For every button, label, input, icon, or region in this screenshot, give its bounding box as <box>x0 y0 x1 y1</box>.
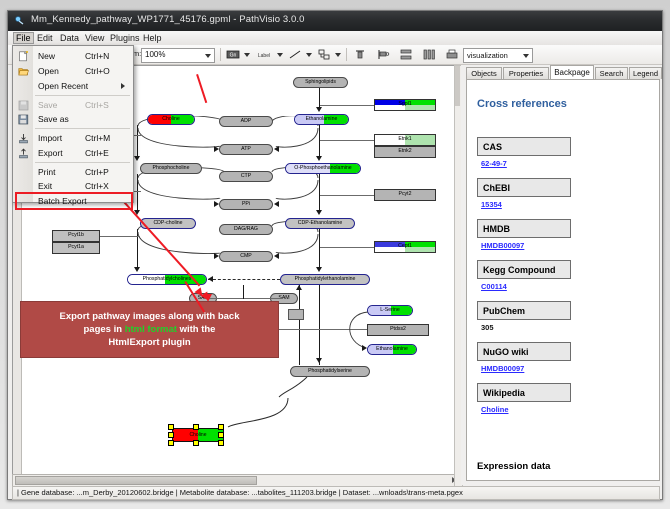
menu-item-accel: Ctrl+X <box>85 181 109 191</box>
menu-item-print[interactable]: Print Ctrl+P <box>13 165 133 179</box>
tab-backpage[interactable]: Backpage <box>550 65 594 79</box>
title-bar: Mm_Kennedy_pathway_WP1771_45176.gpml - P… <box>8 11 662 32</box>
toolbar-separator <box>220 48 221 61</box>
annotation-line-2a: pages in <box>84 324 125 335</box>
connector-cept1 <box>320 247 375 248</box>
node-label: Etnk2 <box>398 149 411 154</box>
node-label: Sphingolipids <box>305 80 336 85</box>
node-adp[interactable]: ADP <box>219 116 273 127</box>
menu-item-label: Print <box>38 167 55 177</box>
node-label: CMP <box>240 254 252 259</box>
node-choline-selected[interactable]: Choline <box>172 428 224 442</box>
arrowhead-icon <box>316 267 322 272</box>
node-atp[interactable]: ATP <box>219 144 273 155</box>
node-ethanolamine[interactable]: Ethanolamine <box>294 114 349 125</box>
arrowhead-icon <box>362 345 367 351</box>
connector-etnk-group <box>320 140 375 141</box>
export-icon <box>18 148 29 159</box>
batch-export-highlight-box <box>15 192 133 210</box>
db-name: HMDB <box>478 224 510 234</box>
menu-separator <box>35 162 130 163</box>
menu-item-label: New <box>38 51 55 61</box>
arrowhead-icon <box>274 201 279 207</box>
node-label: CDP-Ethanolamine <box>298 221 342 226</box>
menu-view[interactable]: View <box>82 32 107 44</box>
label-dropdown-arrow-icon[interactable] <box>277 53 283 57</box>
node-cept1[interactable]: Cept1 <box>374 241 436 253</box>
db-header-pubchem: PubChem <box>477 301 571 320</box>
arrowhead-icon <box>274 253 279 259</box>
edge-methyl-branch <box>243 285 244 299</box>
node-dag-rag[interactable]: DAG/RAG <box>219 224 273 235</box>
distribute-horizontal-button[interactable] <box>422 48 436 61</box>
db-value-nugo-wiki[interactable]: HMDB00097 <box>481 364 524 373</box>
node-label: Pcyt1a <box>68 245 84 250</box>
connector-pcyt1-group <box>100 236 140 237</box>
node-label: CTP <box>241 174 251 179</box>
arrowhead-icon <box>316 107 322 112</box>
menu-item-label: Import <box>38 133 62 143</box>
arrowhead-icon <box>316 358 322 363</box>
menu-item-label: Open Recent <box>38 81 88 91</box>
new-document-icon <box>18 51 29 62</box>
save-as-icon <box>18 114 29 125</box>
node-anchor-stub[interactable] <box>288 309 304 320</box>
node-label: Sgpl1 <box>398 102 411 107</box>
align-top-button[interactable] <box>353 48 367 61</box>
backpage-content: Cross references CAS 62-49-7 ChEBI 15354… <box>466 79 660 481</box>
node-label: Choline <box>173 429 223 441</box>
db-value-hmdb[interactable]: HMDB00097 <box>481 241 524 250</box>
node-label: Pcyt1b <box>68 233 84 238</box>
menu-file[interactable]: File <box>13 32 34 44</box>
scrollbar-thumb[interactable] <box>455 66 460 106</box>
annotation-line-1: Export pathway images along with back <box>59 311 239 322</box>
db-value-pubchem: 305 <box>481 323 494 332</box>
line-tool-button[interactable] <box>288 48 302 61</box>
visualization-value: visualization <box>467 51 508 60</box>
node-label: Ethanolamine <box>306 117 338 122</box>
node-label: Ethanolamine <box>376 347 408 352</box>
gene-product-tool-button[interactable]: Gn <box>226 48 240 61</box>
node-etnk1[interactable]: Etnk1 <box>374 134 436 146</box>
menu-item-label: Export <box>38 148 63 158</box>
svg-text:Gn: Gn <box>230 53 237 59</box>
align-left-button[interactable] <box>376 48 390 61</box>
db-value-kegg-compound[interactable]: C00114 <box>481 282 507 291</box>
node-pcyt2[interactable]: Pcyt2 <box>374 189 436 201</box>
menu-help[interactable]: Help <box>140 32 165 44</box>
node-pcyt1a[interactable]: Pcyt1a <box>52 242 100 254</box>
node-cdp-ethanolamine[interactable]: CDP-Ethanolamine <box>285 218 355 229</box>
db-header-kegg-compound: Kegg Compound <box>477 260 571 279</box>
file-menu-popup[interactable]: New Ctrl+N Open Ctrl+O Open Recent <box>12 45 134 203</box>
distribute-horizontal-icon <box>422 48 436 61</box>
node-label: Phosphocholine <box>153 166 190 171</box>
line-tool-icon <box>288 48 302 61</box>
distribute-vertical-icon <box>399 48 413 61</box>
menu-item-exit[interactable]: Exit Ctrl+X <box>13 179 133 193</box>
edge-ps-to-pe <box>299 285 300 365</box>
db-name: CAS <box>478 142 502 152</box>
zoom-combobox[interactable]: 100% <box>141 48 215 63</box>
line-dropdown-arrow-icon[interactable] <box>306 53 312 57</box>
node-label: Choline <box>162 117 180 122</box>
menu-item-new[interactable]: New Ctrl+N <box>13 49 133 63</box>
submenu-arrow-icon <box>121 83 125 89</box>
arrowhead-icon <box>274 146 279 152</box>
app-window-frame: Mm_Kennedy_pathway_WP1771_45176.gpml - P… <box>0 0 670 509</box>
status-text: | Gene database: ...m_Derby_20120602.bri… <box>17 488 463 497</box>
menu-item-accel: Ctrl+S <box>85 100 109 110</box>
expression-data-title: Expression data <box>477 461 550 472</box>
node-label: Phosphatidylethanolamine <box>295 277 356 282</box>
interaction-tool-button[interactable] <box>317 48 331 61</box>
distribute-vertical-button[interactable] <box>399 48 413 61</box>
interaction-dropdown-arrow-icon[interactable] <box>335 53 341 57</box>
menu-item-accel: Ctrl+O <box>85 66 110 76</box>
align-left-icon <box>376 48 390 61</box>
node-phosphatidylethanolamine[interactable]: Phosphatidylethanolamine <box>280 274 370 285</box>
annotation-text: Export pathway images along with back pa… <box>53 310 245 349</box>
db-name: Wikipedia <box>478 388 525 398</box>
node-label: Etnk1 <box>398 137 411 142</box>
db-header-chebi: ChEBI <box>477 178 571 197</box>
cross-references-title: Cross references <box>477 98 567 110</box>
status-bar: | Gene database: ...m_Derby_20120602.bri… <box>12 486 660 500</box>
connector-pcyt2 <box>320 195 375 196</box>
printer-icon <box>445 48 459 61</box>
menu-item-open-recent[interactable]: Open Recent <box>13 79 133 93</box>
db-header-nugo-wiki: NuGO wiki <box>477 342 571 361</box>
side-panel-tabstrip: Objects Properties Backpage Search Legen… <box>466 65 658 79</box>
side-panel: Objects Properties Backpage Search Legen… <box>461 65 658 485</box>
node-cmp[interactable]: CMP <box>219 251 273 262</box>
node-choline[interactable]: Choline <box>147 114 195 125</box>
menu-item-accel: Ctrl+P <box>85 167 109 177</box>
arrowhead-icon <box>208 276 213 282</box>
folder-open-icon <box>18 66 29 77</box>
menu-separator <box>35 128 130 129</box>
db-header-cas: CAS <box>477 137 571 156</box>
menu-bar: File Edit Data View Plugins Help <box>8 31 662 46</box>
arrowhead-icon <box>296 285 302 290</box>
annotation-line-3: HtmlExport plugin <box>108 337 190 348</box>
node-label: O-Phosphoethanolamine <box>294 166 351 171</box>
menu-item-accel: Ctrl+E <box>85 148 109 158</box>
visualization-combobox[interactable]: visualization <box>463 48 533 63</box>
node-label: ATP <box>241 147 251 152</box>
save-disk-icon <box>18 100 29 111</box>
menu-item-save-as[interactable]: Save as <box>13 112 133 126</box>
db-header-wikipedia: Wikipedia <box>477 383 571 402</box>
node-label: CDP-choline <box>153 221 182 226</box>
node-sgpl1[interactable]: Sgpl1 <box>374 99 436 111</box>
chevron-down-icon <box>523 54 529 58</box>
print-button[interactable] <box>445 48 459 61</box>
annotation-highlight: html format <box>125 324 177 335</box>
menu-item-import[interactable]: Import Ctrl+M <box>13 131 133 145</box>
cofactor-loop-ethanolamine <box>270 116 322 266</box>
node-label: Cept1 <box>398 244 412 249</box>
menu-item-label: Exit <box>38 181 52 191</box>
node-sphingolipids[interactable]: Sphingolipids <box>293 77 348 88</box>
node-label: ADP <box>241 119 252 124</box>
node-label: Ptdss2 <box>390 327 406 332</box>
edge-pe-to-ps <box>319 285 320 365</box>
import-icon <box>18 133 29 144</box>
interaction-tool-icon <box>317 48 331 61</box>
tab-legend[interactable]: Legend <box>629 67 662 79</box>
db-name: ChEBI <box>478 183 510 193</box>
db-value-chebi[interactable]: 15354 <box>481 200 502 209</box>
node-label: Pcyt2 <box>399 192 412 197</box>
zoom-value: 100% <box>145 50 165 59</box>
label-tool-icon: Label <box>255 48 273 61</box>
db-value-cas[interactable]: 62-49-7 <box>481 159 507 168</box>
chevron-down-icon <box>205 54 211 58</box>
db-value-wikipedia[interactable]: Choline <box>481 405 509 414</box>
menu-item-save: Save Ctrl+S <box>13 98 133 112</box>
menu-plugins[interactable]: Plugins <box>107 32 143 44</box>
align-top-icon <box>353 48 367 61</box>
db-name: Kegg Compound <box>478 265 556 275</box>
menu-item-export[interactable]: Export Ctrl+E <box>13 146 133 160</box>
menu-edit[interactable]: Edit <box>34 32 56 44</box>
label-tool-button[interactable]: Label <box>255 48 273 61</box>
gene-product-dropdown-arrow-icon[interactable] <box>244 53 250 57</box>
menu-item-label: Open <box>38 66 59 76</box>
menu-item-label: Save <box>38 100 57 110</box>
db-name: NuGO wiki <box>478 347 529 357</box>
node-ctp[interactable]: CTP <box>219 171 273 182</box>
toolbar-separator <box>346 48 347 61</box>
node-label: PPi <box>242 202 250 207</box>
pathvisio-app-icon <box>14 15 26 27</box>
window-title: Mm_Kennedy_pathway_WP1771_45176.gpml - P… <box>31 14 305 25</box>
pathvisio-window: Mm_Kennedy_pathway_WP1771_45176.gpml - P… <box>7 10 663 500</box>
menu-item-label: Save as <box>38 114 69 124</box>
svg-text:Label: Label <box>258 53 270 59</box>
node-etnk2[interactable]: Etnk2 <box>374 146 436 158</box>
menu-item-accel: Ctrl+N <box>85 51 109 61</box>
menu-separator <box>35 95 130 96</box>
curve-ps-down <box>277 377 327 407</box>
edge-pc-to-pe-dashed <box>208 279 280 280</box>
menu-data[interactable]: Data <box>57 32 82 44</box>
tab-properties[interactable]: Properties <box>503 67 549 79</box>
annotation-line-2c: with the <box>177 324 216 335</box>
connector-sgpl1 <box>320 105 375 106</box>
node-label: L-Serine <box>380 308 400 313</box>
node-phosphocholine[interactable]: Phosphocholine <box>140 163 202 174</box>
node-label: DAG/RAG <box>234 227 258 232</box>
gene-product-icon: Gn <box>226 48 240 61</box>
annotation-callout: Export pathway images along with back pa… <box>20 301 279 358</box>
db-header-hmdb: HMDB <box>477 219 571 238</box>
db-name: PubChem <box>478 306 525 316</box>
node-label: Phosphatidylserine <box>308 369 352 374</box>
tab-objects[interactable]: Objects <box>466 67 502 79</box>
tab-search[interactable]: Search <box>595 67 628 79</box>
node-o-phosphoethanolamine[interactable]: O-Phosphoethanolamine <box>285 163 361 174</box>
node-ppi[interactable]: PPi <box>219 199 273 210</box>
menu-item-accel: Ctrl+M <box>85 133 110 143</box>
scrollbar-thumb[interactable] <box>15 476 257 485</box>
menu-item-open[interactable]: Open Ctrl+O <box>13 64 133 78</box>
serine-ethanolamine-curves <box>332 306 377 356</box>
node-phosphatidylserine[interactable]: Phosphatidylserine <box>290 366 370 377</box>
node-pcyt1b[interactable]: Pcyt1b <box>52 230 100 242</box>
